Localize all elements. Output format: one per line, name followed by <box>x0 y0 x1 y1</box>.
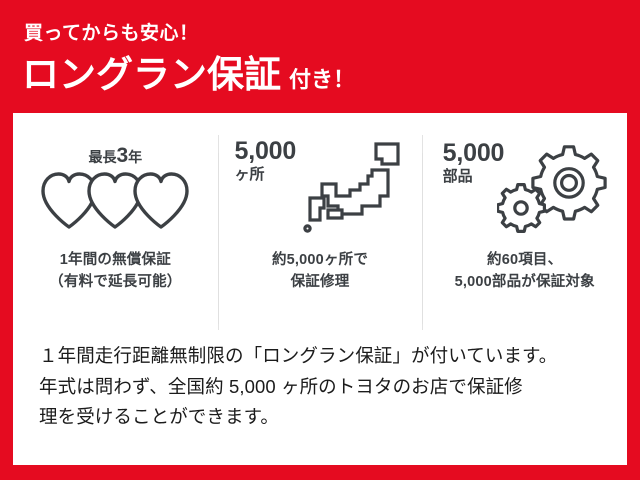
caption-line-2: 5,000部品が保証対象 <box>455 272 595 294</box>
feature-service-locations: 5,000 ヶ所 <box>218 135 423 330</box>
feature-caption: 1年間の無償保証 （有料で延長可能） <box>49 250 181 294</box>
badge-suffix: 年 <box>128 149 142 165</box>
service-locations-badge: 5,000 ヶ所 <box>235 138 297 183</box>
header-kicker: 買ってからも安心！ <box>24 24 199 43</box>
body-line-2: 年式は問わず、全国約 5,000 ヶ所のトヨタのお店で保証修 <box>39 372 605 403</box>
body-line-3: 理を受けることができます。 <box>39 402 605 433</box>
feature-icon-area: 5,000 ヶ所 <box>218 135 423 250</box>
caption-line-1: 約60項目、 <box>455 250 595 272</box>
feature-covered-parts: 5,000 部品 <box>422 135 627 330</box>
badge-number: 5,000 <box>235 138 297 164</box>
badge-number: 3 <box>116 144 128 167</box>
feature-columns: 最長3年 1年間の無償保証 （有料で延長可能） <box>13 135 627 330</box>
badge-prefix: 最長 <box>88 149 116 165</box>
badge-unit: ヶ所 <box>235 167 297 183</box>
header-headline: ロングラン保証 付き！ <box>22 56 355 93</box>
three-hearts-icon <box>39 169 191 236</box>
body-line-1: １年間走行距離無制限の「ロングラン保証」が付いています。 <box>39 341 605 372</box>
banner-header: 買ってからも安心！ ロングラン保証 付き！ <box>0 0 640 113</box>
caption-line-1: 約5,000ヶ所で <box>272 250 368 272</box>
gears-icon <box>497 144 615 249</box>
feature-caption: 約5,000ヶ所で 保証修理 <box>272 250 368 294</box>
badge-unit: 部品 <box>443 169 505 185</box>
feature-caption: 約60項目、 5,000部品が保証対象 <box>455 250 595 294</box>
feature-icon-area: 最長3年 <box>13 135 218 250</box>
body-paragraph: １年間走行距離無制限の「ロングラン保証」が付いています。 年式は問わず、全国約 … <box>39 341 605 433</box>
badge-number: 5,000 <box>443 140 505 166</box>
japan-map-icon <box>302 140 406 249</box>
headline-suffix-text: 付き！ <box>289 69 355 93</box>
feature-icon-area: 5,000 部品 <box>422 135 627 250</box>
feature-warranty-period: 最長3年 1年間の無償保証 （有料で延長可能） <box>13 135 218 330</box>
warranty-period-badge: 最長3年 <box>30 145 200 166</box>
caption-line-2: 保証修理 <box>272 272 368 294</box>
caption-line-2: （有料で延長可能） <box>49 272 181 294</box>
warranty-promo-banner: 買ってからも安心！ ロングラン保証 付き！ 最長3年 <box>0 0 640 480</box>
headline-main-text: ロングラン保証 <box>22 56 281 93</box>
covered-parts-badge: 5,000 部品 <box>443 140 505 185</box>
caption-line-1: 1年間の無償保証 <box>49 250 181 272</box>
content-card: 最長3年 1年間の無償保証 （有料で延長可能） <box>13 113 627 465</box>
